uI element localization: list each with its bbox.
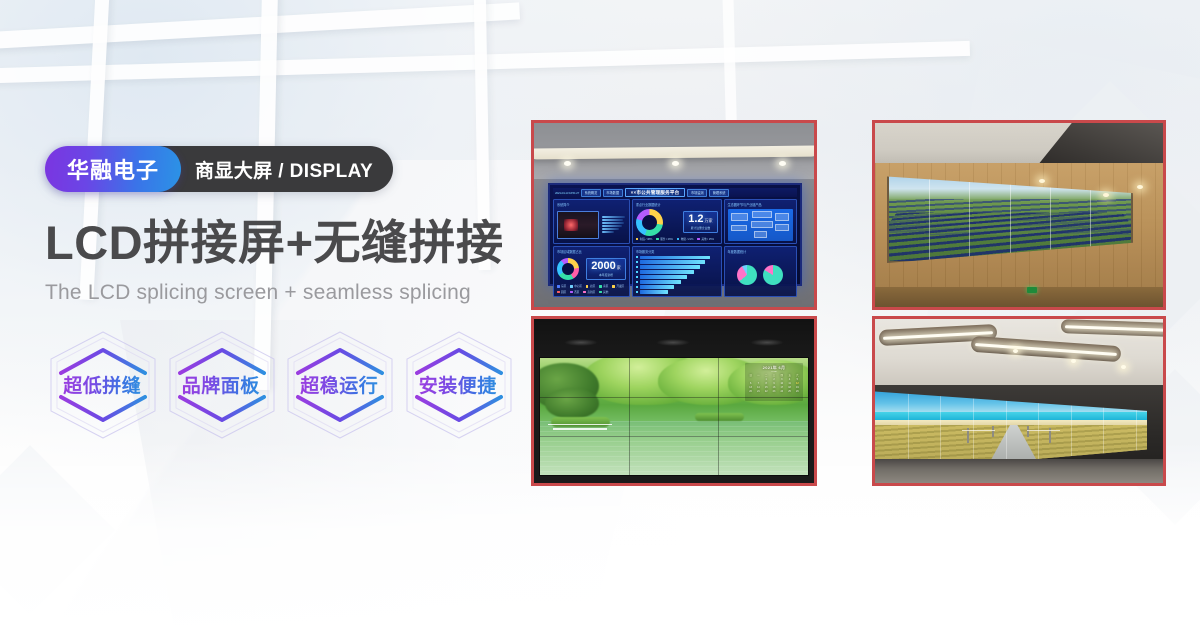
bar-row: [636, 260, 718, 263]
bar-row: [636, 285, 718, 288]
dashboard-header: 2021-04-13 16:51:27 系统概览 市场数据 ××市公共管理服务平…: [553, 188, 797, 197]
calendar-grid: 日 一 二 三 四 五 六 1 2 3 4: [747, 374, 801, 393]
calendar-day: 2: [770, 378, 777, 381]
feature-hex-4: 安装便捷: [401, 329, 516, 441]
flow-diagram: [728, 209, 793, 242]
calendar-day: 23: [770, 390, 777, 393]
brand-badge: 华融电子: [45, 146, 181, 192]
legend-item: 物流 / 21%: [677, 237, 694, 241]
donut-chart: [636, 209, 663, 236]
calendar-weekday: 日: [747, 374, 754, 377]
panel-body: [557, 209, 626, 242]
panel-title: 生态圈环节与产业链产品: [728, 202, 793, 207]
calendar-day: 15: [763, 386, 770, 389]
kpi-secondary: 2000家 本年度新增: [586, 258, 625, 280]
video-wall-top-bezel: [534, 319, 814, 357]
photo-card-dashboard[interactable]: 2021-04-13 16:51:27 系统概览 市场数据 ××市公共管理服务平…: [531, 120, 817, 310]
bar-row: [636, 256, 718, 259]
bar-row: [636, 265, 718, 268]
feature-hex-row: 超低拼缝 品牌面板 超稳运行: [45, 329, 515, 441]
legend-label: 其他: [603, 290, 608, 294]
downlight-icon: [672, 161, 679, 166]
spotlight-icon: [1121, 365, 1126, 369]
dashboard-tab-3[interactable]: 管理系统: [709, 189, 729, 197]
kpi-value-text: 2000: [591, 260, 615, 272]
wall-light-icon: [1137, 185, 1143, 189]
kpi-unit-text: 家: [617, 265, 621, 270]
calendar-day: 9: [770, 382, 777, 385]
bar-row: [636, 270, 718, 273]
calendar-day: 20: [747, 390, 754, 393]
dashboard-legend-primary: 制造 / 38% 服务 / 26% 物流 / 21% 其他 / 15%: [636, 237, 718, 241]
calendar-day: 21: [755, 390, 762, 393]
legend-item: 园区: [557, 290, 566, 294]
calendar-day: 3: [778, 378, 785, 381]
railing: [548, 424, 612, 426]
calendar-day: 14: [755, 386, 762, 389]
calendar-day: 4: [786, 378, 793, 381]
legend-item: 北区: [586, 284, 595, 288]
legend-item: 制造 / 38%: [636, 237, 653, 241]
photo-card-solar-corridor[interactable]: [872, 120, 1166, 310]
dashboard-panel-intro: 系统简介: [553, 199, 630, 244]
video-wall-lake: 2021年 6月 JUNE 日 一 二 三 四 五 六 1: [539, 357, 809, 476]
calendar-weekday: 六: [794, 374, 801, 377]
corridor-floor: [875, 287, 1163, 307]
dark-tree: [545, 388, 599, 418]
photo-card-beach-lobby[interactable]: [872, 316, 1166, 486]
panel-title: 重点行业数据统计: [636, 202, 718, 207]
banner-root: 华融电子 商显大屏 / DISPLAY LCD拼接屏+无缝拼接 The LCD …: [0, 0, 1200, 640]
dashboard-panel-region: 市场区域数据占比 2000家 本年度新增: [553, 246, 630, 297]
kpi-primary-value: 1.2万家: [688, 214, 712, 225]
downlight-icon: [779, 161, 786, 166]
legend-item: 中心区: [570, 284, 582, 288]
legend-label: 园区: [561, 290, 566, 294]
feature-hex-3: 超稳运行: [282, 329, 397, 441]
dashboard-tab-2[interactable]: 市场监测: [687, 189, 707, 197]
legend-item: 南区: [599, 284, 608, 288]
kpi-primary-caption: 累计注册企业数: [688, 226, 712, 230]
calendar-day: 7: [755, 382, 762, 385]
legend-label: 高新区: [587, 290, 595, 294]
calendar-day: 11: [786, 382, 793, 385]
legend-label: 东区: [561, 284, 566, 288]
legend-label: 中心区: [574, 284, 582, 288]
legend-item: 其他: [599, 290, 608, 294]
dashboard-row-top: 系统简介 重点行业数据统计: [553, 199, 797, 244]
pie-chart-a: [737, 265, 757, 285]
spotlight-icon: [1013, 349, 1018, 353]
legend-label: 开发区: [616, 284, 624, 288]
legend-label: 物流 / 21%: [681, 237, 694, 241]
donut-chart-small: [557, 258, 579, 280]
panel-title: 年度数据统计: [728, 249, 793, 254]
dashboard-timestamp: 2021-04-13 16:51:27: [555, 191, 579, 195]
hedge: [695, 413, 743, 421]
brand-badge-row: 华融电子 商显大屏 / DISPLAY: [45, 146, 515, 192]
calendar-day: 26: [794, 390, 801, 393]
panel-title: 系统简介: [557, 202, 626, 207]
dashboard-panel-annual: 年度数据统计: [724, 246, 797, 297]
calendar-weekday: 四: [778, 374, 785, 377]
calendar-weekday: 一: [755, 374, 762, 377]
calendar-day: 19: [794, 386, 801, 389]
panel-thumbnail: [557, 211, 599, 239]
feature-hex-label-4: 安装便捷: [419, 371, 497, 398]
category-badge-label: 商显大屏 / DISPLAY: [195, 156, 373, 183]
feature-hex-2: 品牌面板: [164, 329, 279, 441]
spotlight-icon: [1071, 359, 1076, 363]
calendar-day: 17: [778, 386, 785, 389]
calendar-day: 10: [778, 382, 785, 385]
calendar-day: 18: [786, 386, 793, 389]
panel-title: 市场服务分类: [636, 249, 718, 254]
calendar-day: 5: [794, 378, 801, 381]
calendar-day: [747, 378, 754, 381]
panel-body: 1.2万家 累计注册企业数: [636, 209, 718, 236]
calendar-day: 22: [763, 390, 770, 393]
beach-sea: [875, 412, 1147, 420]
legend-item: 高新区: [583, 290, 595, 294]
kpi-primary: 1.2万家 累计注册企业数: [683, 211, 717, 233]
bar-row: [636, 290, 718, 293]
feature-hex-label-2: 品牌面板: [182, 371, 260, 398]
calendar-day: 25: [786, 390, 793, 393]
legend-label: 北区: [590, 284, 595, 288]
legend-label: 南区: [603, 284, 608, 288]
feature-hex-label-3: 超稳运行: [300, 371, 378, 398]
kpi-secondary-caption: 本年度新增: [591, 273, 620, 277]
panel-body: 2000家 本年度新增: [557, 256, 626, 283]
video-wall-dashboard: 2021-04-13 16:51:27 系统概览 市场数据 ××市公共管理服务平…: [548, 183, 802, 286]
exit-sign-icon: [1027, 287, 1037, 293]
photo-dashboard-scene: 2021-04-13 16:51:27 系统概览 市场数据 ××市公共管理服务平…: [534, 123, 814, 307]
dashboard-title: ××市公共管理服务平台: [625, 188, 686, 197]
pie-chart-b: [763, 265, 783, 285]
calendar-day: 24: [778, 390, 785, 393]
hero-copy-column: 华融电子 商显大屏 / DISPLAY LCD拼接屏+无缝拼接 The LCD …: [45, 146, 515, 441]
legend-label: 西区: [574, 290, 579, 294]
dashboard-row-bottom: 市场区域数据占比 2000家 本年度新增: [553, 246, 797, 297]
lobby-floor: [875, 459, 1163, 483]
calendar-day: 16: [770, 386, 777, 389]
calendar-weekday: 三: [770, 374, 777, 377]
calendar-day: 8: [763, 382, 770, 385]
legend-label: 其他 / 15%: [701, 237, 714, 241]
dashboard-tab-1[interactable]: 市场数据: [603, 189, 623, 197]
calendar-weekday: 二: [763, 374, 770, 377]
dashboard-body: 系统简介 重点行业数据统计: [553, 199, 797, 297]
panel-body: [728, 256, 793, 294]
photo-card-lake-wall[interactable]: 2021年 6月 JUNE 日 一 二 三 四 五 六 1: [531, 316, 817, 486]
bar-row: [636, 275, 718, 278]
dashboard-panel-industry: 重点行业数据统计 1.2万家 累计注册企业数: [632, 199, 722, 244]
photo-solar-scene: [875, 123, 1163, 307]
kpi-unit-text: 万家: [705, 218, 713, 223]
calendar-overlay: 2021年 6月 JUNE 日 一 二 三 四 五 六 1: [745, 363, 803, 401]
legend-label: 服务 / 26%: [660, 237, 673, 241]
legend-item: 开发区: [612, 284, 624, 288]
panel-text-lines: [602, 216, 626, 233]
brand-badge-label: 华融电子: [67, 153, 159, 185]
dashboard-panel-services: 市场服务分类: [632, 246, 722, 297]
calendar-day: 6: [747, 382, 754, 385]
calendar-day-today: 12: [794, 382, 801, 385]
photo-lake-scene: 2021年 6月 JUNE 日 一 二 三 四 五 六 1: [534, 319, 814, 483]
legend-item: 西区: [570, 290, 579, 294]
page-subtitle: The LCD splicing screen + seamless splic…: [45, 281, 515, 305]
dashboard-tab-0[interactable]: 系统概览: [581, 189, 601, 197]
pie-chart-group: [728, 265, 793, 285]
calendar-day: [755, 378, 762, 381]
feature-hex-label-1: 超低拼缝: [63, 371, 141, 398]
legend-item: 东区: [557, 284, 566, 288]
legend-label: 制造 / 38%: [640, 237, 653, 241]
wall-light-icon: [1103, 193, 1109, 197]
bar-chart: [636, 256, 718, 294]
photo-beach-scene: [875, 319, 1163, 483]
bar-row: [636, 280, 718, 283]
railing: [553, 428, 607, 430]
feature-hex-1: 超低拼缝: [45, 329, 160, 441]
dashboard-legend-secondary: 东区 中心区 北区 南区 开发区 园区 西区 高新区 其他: [557, 284, 626, 294]
dashboard-panel-ecosystem: 生态圈环节与产业链产品: [724, 199, 797, 244]
page-title: LCD拼接屏+无缝拼接: [45, 218, 515, 268]
calendar-weekday: 五: [786, 374, 793, 377]
kpi-secondary-value: 2000家: [591, 261, 620, 272]
wall-light-icon: [1039, 179, 1045, 183]
calendar-day: 13: [747, 386, 754, 389]
calendar-subtitle: JUNE: [747, 371, 801, 373]
panel-title: 市场区域数据占比: [557, 249, 626, 254]
downlight-icon: [564, 161, 571, 166]
legend-item: 服务 / 26%: [656, 237, 673, 241]
background-diamond-5: [0, 445, 115, 615]
legend-item: 其他 / 15%: [697, 237, 714, 241]
calendar-day: 1: [763, 378, 770, 381]
kpi-value-text: 1.2: [688, 213, 703, 225]
hedge: [551, 417, 610, 428]
